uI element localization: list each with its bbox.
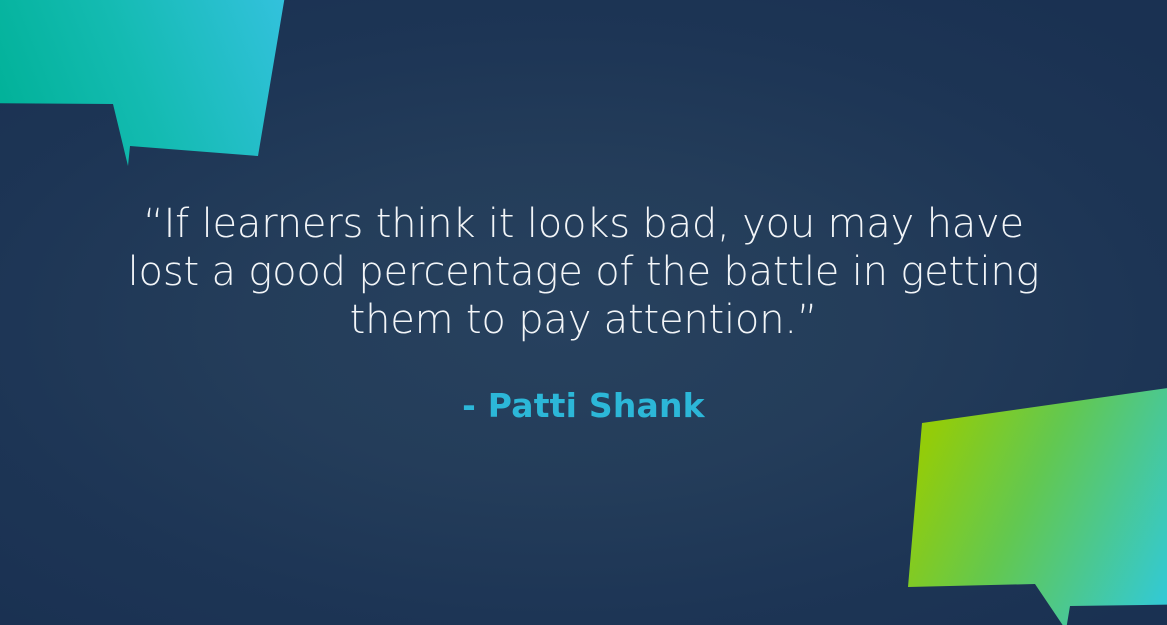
quote-text: “If learners think it looks bad, you may… [104,200,1064,344]
quote-block: “If learners think it looks bad, you may… [0,200,1167,426]
speech-bubble-top-left-icon [0,0,300,180]
quote-slide: “If learners think it looks bad, you may… [0,0,1167,625]
quote-attribution: - Patti Shank [0,344,1167,426]
